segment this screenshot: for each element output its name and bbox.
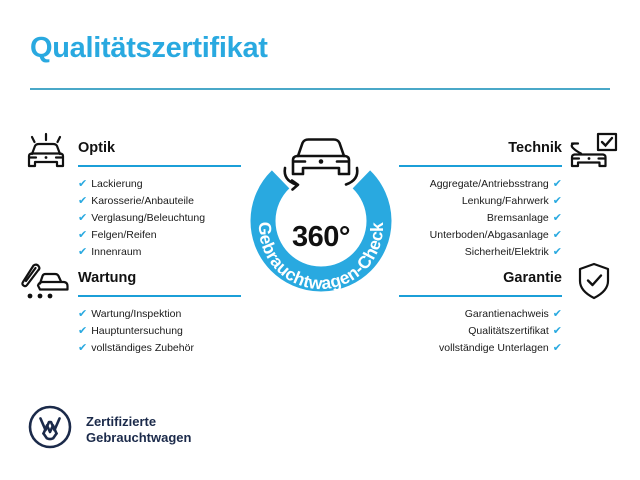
section-optik: Optik ✔Lackierung ✔Karosserie/Anbauteile…: [20, 132, 265, 172]
check-icon: ✔: [78, 176, 87, 193]
check-icon: ✔: [553, 323, 562, 340]
list-item-label: Verglasung/Beleuchtung: [91, 212, 205, 224]
list-item: Sicherheit/Elektrik✔: [430, 244, 562, 261]
section-wartung: Wartung ✔Wartung/Inspektion ✔Hauptunters…: [20, 262, 265, 302]
list-item-label: Lenkung/Fahrwerk: [462, 195, 549, 207]
section-header: Technik: [375, 132, 620, 172]
list-item: vollständige Unterlagen✔: [439, 340, 562, 357]
check-icon: ✔: [78, 244, 87, 261]
check-icon: ✔: [553, 340, 562, 357]
list-item-label: Sicherheit/Elektrik: [465, 246, 549, 258]
list-item-label: Lackierung: [91, 178, 142, 190]
section-header: Optik: [20, 132, 265, 172]
check-icon: ✔: [553, 210, 562, 227]
footer-line-2: Gebrauchtwagen: [86, 430, 191, 446]
list-item-label: Bremsanlage: [487, 212, 549, 224]
check-icon: ✔: [78, 193, 87, 210]
check-icon: ✔: [78, 323, 87, 340]
section-header: Garantie: [375, 262, 620, 302]
check-icon: ✔: [78, 306, 87, 323]
list-item-label: Innenraum: [91, 246, 141, 258]
checklist-optik: ✔Lackierung ✔Karosserie/Anbauteile ✔Verg…: [78, 176, 205, 261]
section-garantie: Garantie Garantienachweis✔ Qualitätszert…: [375, 262, 620, 302]
list-item: Unterboden/Abgasanlage✔: [430, 227, 562, 244]
section-underline: [78, 295, 241, 297]
check-icon: ✔: [553, 193, 562, 210]
section-technik: Technik Aggregate/Antriebsstrang✔ Lenkun…: [375, 132, 620, 172]
list-item: Bremsanlage✔: [430, 210, 562, 227]
footer-brand-text: Zertifizierte Gebrauchtwagen: [86, 414, 191, 446]
check-icon: ✔: [78, 340, 87, 357]
car-wrench-oil-icon: [20, 262, 72, 300]
list-item-label: vollständige Unterlagen: [439, 342, 549, 354]
car-hood-checkbox-icon: [568, 132, 620, 170]
list-item-label: Unterboden/Abgasanlage: [430, 229, 549, 241]
list-item: ✔Wartung/Inspektion: [78, 306, 194, 323]
check-icon: ✔: [553, 227, 562, 244]
check-icon: ✔: [78, 210, 87, 227]
list-item-label: Qualitätszertifikat: [468, 325, 549, 337]
badge-degrees-label: 360°: [240, 221, 402, 254]
list-item-label: vollständiges Zubehör: [91, 342, 194, 354]
list-item-label: Wartung/Inspektion: [91, 308, 181, 320]
list-item-label: Hauptuntersuchung: [91, 325, 183, 337]
list-item: Qualitätszertifikat✔: [439, 323, 562, 340]
check-icon: ✔: [553, 176, 562, 193]
section-header: Wartung: [20, 262, 265, 302]
badge-360-gebrauchtwagen-check: Gebrauchtwagen-Check 360°: [240, 125, 402, 305]
section-underline: [399, 295, 562, 297]
check-icon: ✔: [553, 306, 562, 323]
header-divider: [30, 88, 610, 90]
footer-brand: Zertifizierte Gebrauchtwagen: [28, 405, 191, 454]
page-title: Qualitätszertifikat: [30, 32, 268, 65]
section-title: Technik: [508, 140, 562, 156]
footer-line-1: Zertifizierte: [86, 414, 191, 430]
checklist-garantie: Garantienachweis✔ Qualitätszertifikat✔ v…: [439, 306, 562, 357]
check-icon: ✔: [78, 227, 87, 244]
checklist-technik: Aggregate/Antriebsstrang✔ Lenkung/Fahrwe…: [430, 176, 562, 261]
section-title: Wartung: [78, 270, 136, 286]
list-item: Garantienachweis✔: [439, 306, 562, 323]
list-item-label: Garantienachweis: [465, 308, 549, 320]
list-item-label: Karosserie/Anbauteile: [91, 195, 194, 207]
list-item: ✔Felgen/Reifen: [78, 227, 205, 244]
section-underline: [399, 165, 562, 167]
list-item: ✔Lackierung: [78, 176, 205, 193]
checklist-wartung: ✔Wartung/Inspektion ✔Hauptuntersuchung ✔…: [78, 306, 194, 357]
section-title: Garantie: [503, 270, 562, 286]
car-rotation-360-icon: [285, 140, 358, 190]
list-item-label: Aggregate/Antriebsstrang: [430, 178, 549, 190]
volkswagen-logo: [28, 405, 72, 454]
shield-check-icon: [568, 262, 620, 300]
car-shine-icon: [20, 132, 72, 170]
section-title: Optik: [78, 140, 115, 156]
list-item-label: Felgen/Reifen: [91, 229, 156, 241]
section-underline: [78, 165, 241, 167]
list-item: Aggregate/Antriebsstrang✔: [430, 176, 562, 193]
list-item: ✔Verglasung/Beleuchtung: [78, 210, 205, 227]
list-item: ✔Karosserie/Anbauteile: [78, 193, 205, 210]
list-item: Lenkung/Fahrwerk✔: [430, 193, 562, 210]
list-item: ✔Hauptuntersuchung: [78, 323, 194, 340]
list-item: ✔vollständiges Zubehör: [78, 340, 194, 357]
check-icon: ✔: [553, 244, 562, 261]
list-item: ✔Innenraum: [78, 244, 205, 261]
